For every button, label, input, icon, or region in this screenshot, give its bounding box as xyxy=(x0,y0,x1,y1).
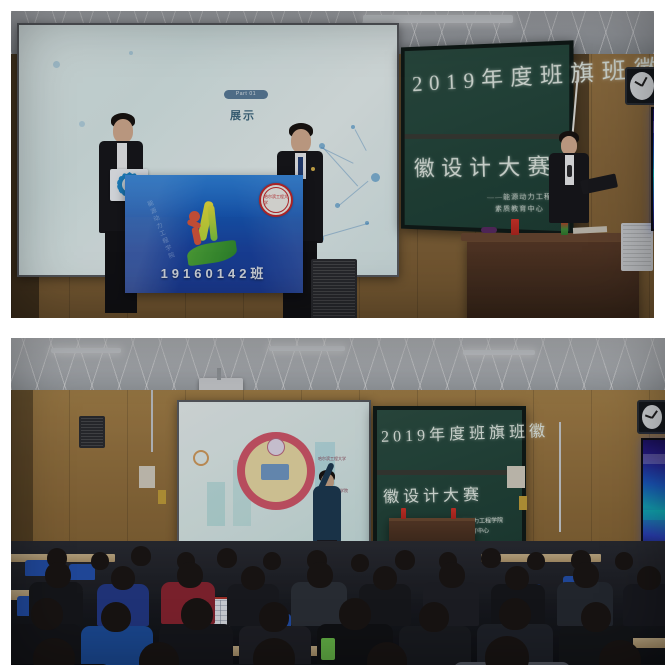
audience-row-nearest xyxy=(11,638,665,665)
seal-text: 哈尔滨工程大学 xyxy=(263,187,289,213)
wall-clock xyxy=(625,67,654,105)
ceiling-lamp xyxy=(269,346,345,351)
photo-collage: Part 01 展示 2019年度班旗班徽 徽设计大赛 ——能源动力工程学院 素… xyxy=(0,0,665,665)
fire-extinguisher-box xyxy=(158,490,166,504)
drink-can-red xyxy=(451,508,456,519)
stage-presentation-photo: Part 01 展示 2019年度班旗班徽 徽设计大赛 ——能源动力工程学院 素… xyxy=(11,11,654,318)
flag-mascot xyxy=(183,201,239,261)
emblem-center-mark xyxy=(261,464,289,480)
green-bottle xyxy=(321,638,335,660)
blackboard-signature-2: 素质教育中心 xyxy=(495,204,544,214)
side-wall-left xyxy=(11,390,33,540)
microphone xyxy=(567,165,572,177)
glasses-case xyxy=(481,227,497,233)
wall-speaker-white xyxy=(621,223,653,271)
audience-hall-photo: 哈尔滨工程大学 能源动力工程学院 2019年度班旗班徽 徽设计大赛 ——能源动力… xyxy=(11,338,665,665)
slide-part-badge: Part 01 xyxy=(224,90,268,99)
screen-bar-chart xyxy=(207,482,225,526)
blackboard-line-1: 2019年度班旗班徽 xyxy=(381,417,550,447)
lapel-pin xyxy=(311,167,315,171)
university-seal: 哈尔滨工程大学 xyxy=(259,183,293,217)
presenter-jacket xyxy=(313,486,341,542)
hanging-cable xyxy=(559,422,561,532)
drink-can-red xyxy=(401,508,406,519)
podium xyxy=(467,239,639,318)
wall-clock xyxy=(637,400,665,434)
ceiling xyxy=(11,338,665,390)
flag-class-number: 19160142班 xyxy=(125,263,303,282)
host-right xyxy=(545,131,599,241)
screen-marker-circle xyxy=(193,450,209,466)
slide-heading: 展示 xyxy=(230,107,256,123)
ceiling-lamp xyxy=(463,350,535,355)
blackboard-line-2: 徽设计大赛 xyxy=(383,481,484,508)
projector-mount xyxy=(217,368,221,380)
ceiling-lamp xyxy=(51,348,121,353)
fire-extinguisher-box xyxy=(519,496,527,510)
class-flag: 哈尔滨工程大学 能源动力工程学院 19160142班 xyxy=(125,175,303,293)
drink-can-red xyxy=(511,219,519,235)
loudspeaker xyxy=(311,259,357,318)
ceiling-lamp xyxy=(363,15,513,23)
hanging-cable xyxy=(151,390,153,452)
wall-panel xyxy=(139,466,155,488)
wall-speaker xyxy=(79,416,105,448)
blackboard-line-2: 徽设计大赛 xyxy=(414,148,559,182)
emblem-core xyxy=(267,438,285,456)
led-display xyxy=(651,107,654,231)
wall-panel xyxy=(507,466,525,488)
